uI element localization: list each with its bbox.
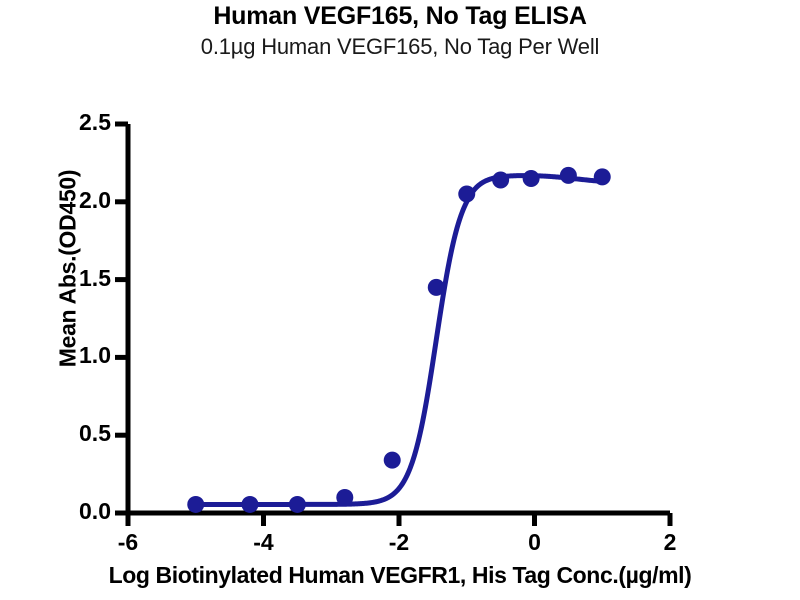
data-point [594,168,611,185]
y-tick-label: 1.5 [49,265,111,292]
x-tick-label: -2 [377,529,421,556]
x-tick-label: -4 [242,529,286,556]
data-point [428,279,445,296]
data-point [458,186,475,203]
data-point [492,172,509,189]
y-tick-label: 0.5 [49,420,111,447]
chart-svg [0,0,800,600]
data-point [560,167,577,184]
y-tick-label: 2.0 [49,187,111,214]
data-point [187,496,204,513]
x-tick-label: 0 [513,529,557,556]
y-tick-label: 0.0 [49,498,111,525]
data-point [289,496,306,513]
x-tick-label: -6 [106,529,150,556]
chart-page: Human VEGF165, No Tag ELISA 0.1µg Human … [0,0,800,600]
y-tick-label: 2.5 [49,109,111,136]
plot-area: Mean Abs.(OD450) Log Biotinylated Human … [0,0,800,600]
data-point [384,452,401,469]
data-point-markers [187,167,611,513]
data-point [523,170,540,187]
data-point [241,496,258,513]
y-tick-label: 1.0 [49,342,111,369]
x-tick-label: 2 [648,529,692,556]
data-point [336,489,353,506]
